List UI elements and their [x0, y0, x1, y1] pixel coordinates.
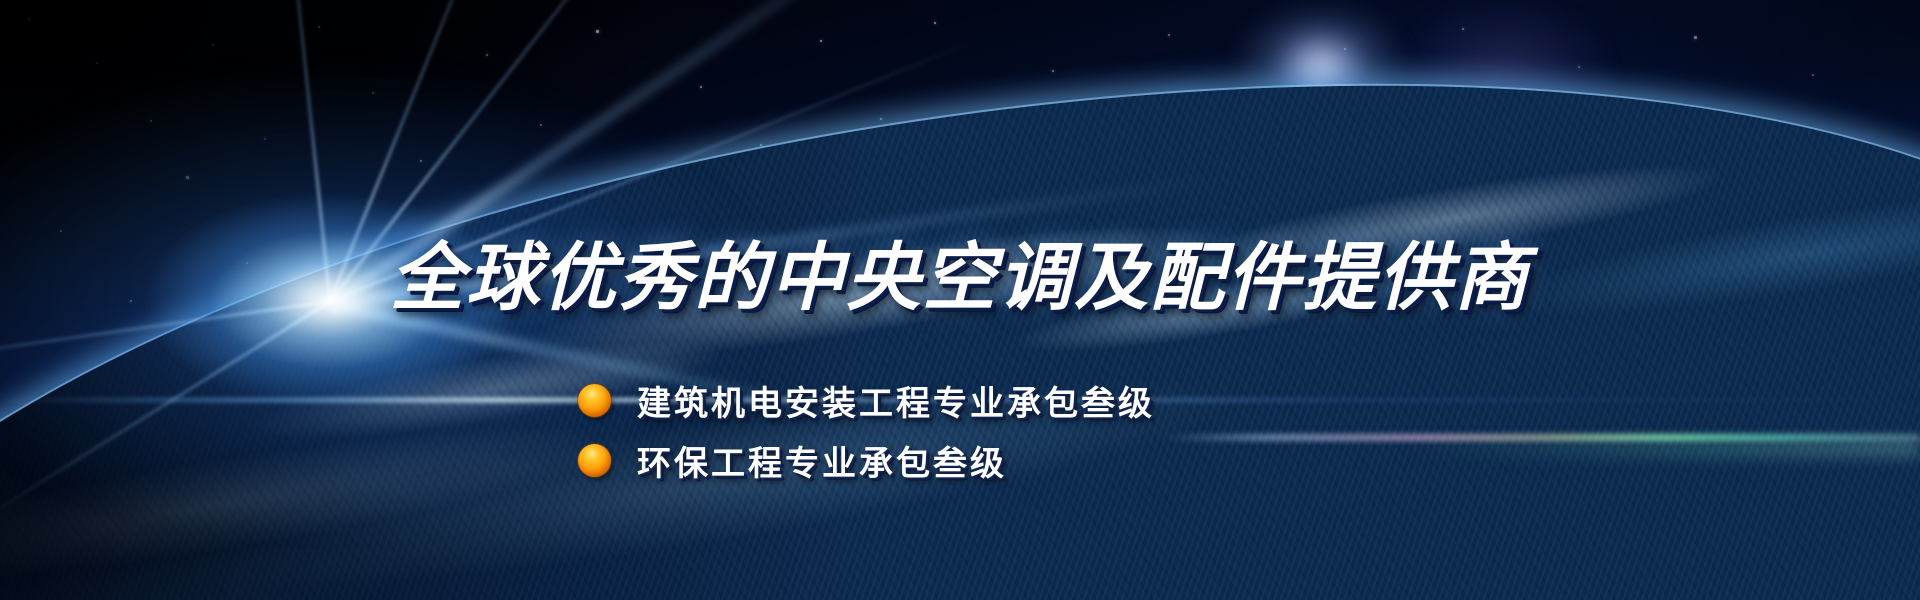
banner-headline: 全球优秀的中央空调及配件提供商 — [390, 218, 1530, 325]
orange-bullet-icon — [578, 384, 611, 417]
banner-content: 全球优秀的中央空调及配件提供商 建筑机电安装工程专业承包叁级 环保工程专业承包叁… — [0, 0, 1920, 600]
list-item: 环保工程专业承包叁级 — [578, 432, 1155, 488]
list-item-label: 建筑机电安装工程专业承包叁级 — [637, 376, 1155, 425]
orange-bullet-icon — [578, 444, 611, 477]
hero-banner: 全球优秀的中央空调及配件提供商 建筑机电安装工程专业承包叁级 环保工程专业承包叁… — [0, 0, 1920, 600]
list-item: 建筑机电安装工程专业承包叁级 — [578, 372, 1155, 428]
list-item-label: 环保工程专业承包叁级 — [637, 436, 1007, 485]
qualification-list: 建筑机电安装工程专业承包叁级 环保工程专业承包叁级 — [578, 372, 1155, 492]
